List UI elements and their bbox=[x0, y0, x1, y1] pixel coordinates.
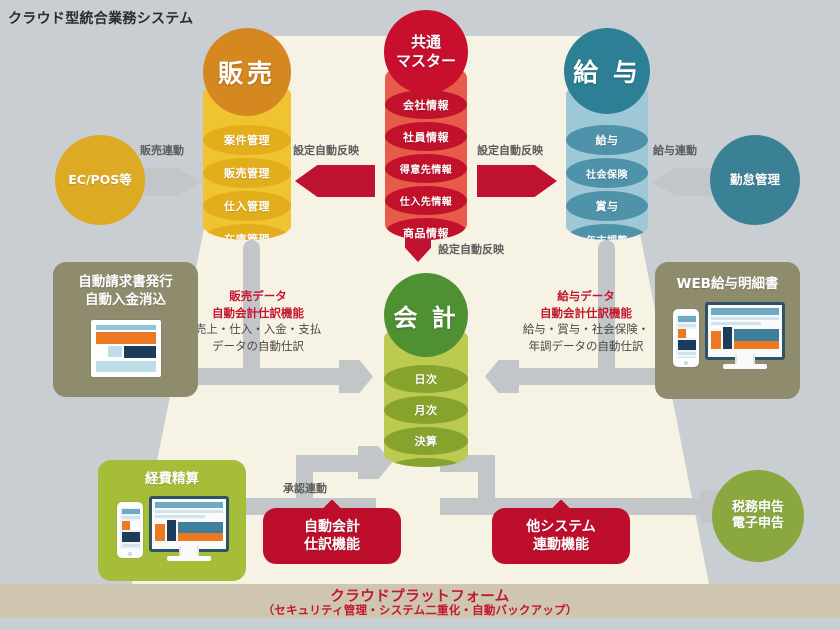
label-sales-link: 販売連動 bbox=[140, 142, 184, 158]
cylinder-sales[interactable]: 案件管理 販売管理 仕入管理 在庫管理 販売 bbox=[203, 80, 291, 240]
cylinder-payroll[interactable]: 給与 社会保険 賞与 年末調整 給 与 bbox=[566, 80, 648, 240]
cylinder-sales-item-3: 在庫管理 bbox=[203, 224, 291, 240]
cylinder-master-item-0: 会社情報 bbox=[385, 90, 467, 119]
payslip-device-illustration bbox=[669, 302, 787, 374]
cylinder-master-cap: 共通 マスター bbox=[384, 10, 468, 94]
label-master-to-sales: 設定自動反映 bbox=[293, 142, 359, 158]
cloud-platform-band: クラウドプラットフォーム （セキュリティ管理・システム二重化・自動バックアップ） bbox=[0, 584, 840, 618]
cylinder-master[interactable]: 会社情報 社員情報 得意先情報 仕入先情報 商品情報 共通 マスター bbox=[385, 62, 467, 240]
label-approval-link: 承認連動 bbox=[283, 480, 327, 496]
cylinder-sales-item-1: 販売管理 bbox=[203, 158, 291, 188]
box-expense[interactable]: 経費精算 bbox=[98, 460, 246, 581]
box-auto-invoice-line1: 自動請求書発行 bbox=[78, 274, 173, 292]
arrow-attendance-to-payroll bbox=[651, 168, 713, 196]
pipe-payroll-horizontal bbox=[515, 368, 615, 385]
note-sales-head1: 販売データ bbox=[183, 288, 333, 305]
arrow-ecpos-to-sales bbox=[140, 168, 202, 196]
circle-ecpos-label: EC/POS等 bbox=[68, 172, 132, 188]
pipe-invoice-to-sales bbox=[196, 368, 251, 385]
box-web-payslip[interactable]: WEB給与明細書 bbox=[655, 262, 800, 399]
pipe-webpayslip-to-payroll bbox=[607, 368, 662, 385]
label-master-to-accounting: 設定自動反映 bbox=[438, 241, 504, 257]
cylinder-accounting-item-3: 固定資産 bbox=[384, 458, 468, 467]
cylinder-payroll-item-1: 社会保険 bbox=[566, 158, 648, 188]
box-other-system[interactable]: 他システム 連動機能 bbox=[492, 508, 630, 564]
cylinder-sales-cap: 販売 bbox=[203, 28, 291, 116]
page-title: クラウド型統合業務システム bbox=[8, 8, 193, 28]
cylinder-payroll-item-2: 賞与 bbox=[566, 191, 648, 221]
box-web-payslip-line1: WEB給与明細書 bbox=[677, 276, 779, 294]
circle-tax-filing[interactable]: 税務申告 電子申告 bbox=[712, 470, 804, 562]
pipe-accounting-left-upper bbox=[296, 455, 376, 472]
note-payroll-head2: 自動会計仕訳機能 bbox=[508, 305, 664, 322]
cylinder-payroll-item-0: 給与 bbox=[566, 125, 648, 155]
expense-device-illustration bbox=[113, 496, 231, 564]
note-sales-data: 販売データ 自動会計仕訳機能 売上・仕入・入金・支払 データの自動仕訳 bbox=[183, 288, 333, 355]
cylinder-accounting-item-2: 決算 bbox=[384, 427, 468, 455]
cylinder-accounting[interactable]: 日次 月次 決算 固定資産 会 計 bbox=[384, 325, 468, 467]
cylinder-master-item-1: 社員情報 bbox=[385, 122, 467, 151]
circle-attendance-label: 勤怠管理 bbox=[730, 172, 780, 188]
box-auto-journal-line1: 自動会計 bbox=[304, 518, 360, 536]
cylinder-master-cap-line1: 共通 bbox=[411, 33, 441, 52]
cylinder-master-item-4: 商品情報 bbox=[385, 218, 467, 240]
note-payroll-sub2: 年調データの自動仕訳 bbox=[508, 338, 664, 355]
note-sales-sub1: 売上・仕入・入金・支払 bbox=[183, 321, 333, 338]
diagram-canvas: クラウドプラットフォーム （セキュリティ管理・システム二重化・自動バックアップ）… bbox=[0, 0, 840, 630]
box-expense-line1: 経費精算 bbox=[145, 471, 199, 489]
label-payroll-link: 給与連動 bbox=[653, 142, 697, 158]
circle-ecpos[interactable]: EC/POS等 bbox=[55, 135, 145, 225]
note-payroll-head1: 給与データ bbox=[508, 288, 664, 305]
cylinder-accounting-item-1: 月次 bbox=[384, 396, 468, 424]
box-auto-invoice-line2: 自動入金消込 bbox=[85, 292, 166, 310]
box-auto-journal[interactable]: 自動会計 仕訳機能 bbox=[263, 508, 401, 564]
cylinder-master-item-3: 仕入先情報 bbox=[385, 186, 467, 215]
invoice-document-illustration bbox=[91, 320, 161, 377]
cylinder-master-item-2: 得意先情報 bbox=[385, 154, 467, 183]
box-other-system-line1: 他システム bbox=[526, 518, 596, 536]
pipe-sales-horizontal bbox=[243, 368, 343, 385]
circle-tax-line2: 電子申告 bbox=[732, 516, 784, 532]
note-payroll-data: 給与データ 自動会計仕訳機能 給与・賞与・社会保険・ 年調データの自動仕訳 bbox=[508, 288, 664, 355]
platform-subtitle: （セキュリティ管理・システム二重化・自動バックアップ） bbox=[0, 602, 840, 618]
cylinder-accounting-item-0: 日次 bbox=[384, 365, 468, 393]
circle-attendance[interactable]: 勤怠管理 bbox=[710, 135, 800, 225]
cylinder-sales-item-2: 仕入管理 bbox=[203, 191, 291, 221]
cylinder-sales-item-0: 案件管理 bbox=[203, 125, 291, 155]
note-sales-sub2: データの自動仕訳 bbox=[183, 338, 333, 355]
box-auto-invoice[interactable]: 自動請求書発行 自動入金消込 bbox=[53, 262, 198, 397]
box-auto-journal-line2: 仕訳機能 bbox=[304, 536, 360, 554]
note-payroll-sub1: 給与・賞与・社会保険・ bbox=[508, 321, 664, 338]
cylinder-payroll-item-3: 年末調整 bbox=[566, 224, 648, 240]
note-sales-head2: 自動会計仕訳機能 bbox=[183, 305, 333, 322]
box-other-system-line2: 連動機能 bbox=[533, 536, 589, 554]
cylinder-payroll-cap: 給 与 bbox=[564, 28, 650, 114]
cylinder-accounting-cap: 会 計 bbox=[384, 273, 468, 357]
cylinder-master-cap-line2: マスター bbox=[396, 52, 456, 71]
label-master-to-payroll: 設定自動反映 bbox=[477, 142, 543, 158]
circle-tax-line1: 税務申告 bbox=[732, 500, 784, 516]
